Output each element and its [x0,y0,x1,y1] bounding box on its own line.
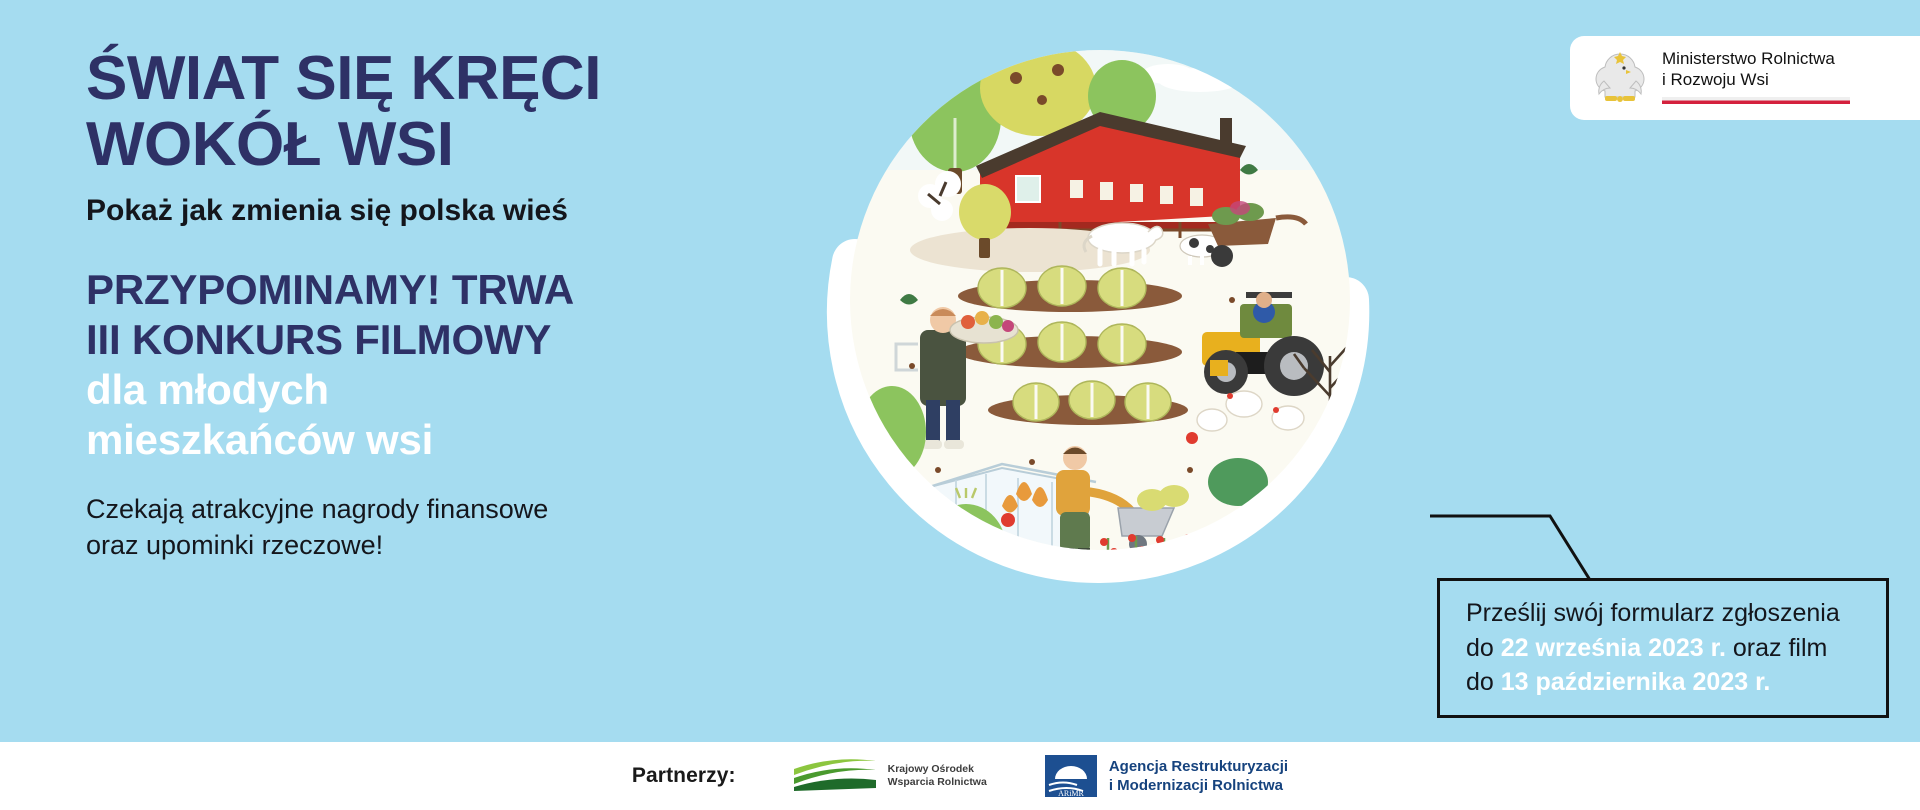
partner-logo-arimr: ARiMR Agencja Restrukturyzacji i Moderni… [1043,753,1288,799]
ministry-name-line1: Ministerstwo Rolnictwa [1662,49,1850,70]
audience: dla młodych mieszkańców wsi [86,365,706,466]
prizes-copy: Czekają atrakcyjne nagrody finansowe ora… [86,491,706,563]
deadline-prefix-2: do [1466,668,1501,696]
arimr-name-line2: i Modernizacji Rolnictwa [1109,776,1288,796]
page-title: ŚWIAT SIĘ KRĘCI WOKÓŁ WSI [86,46,706,177]
title-line-2: WOKÓŁ WSI [86,112,706,178]
announcement-line-1: PRZYPOMINAMY! TRWA [86,265,706,315]
arimr-sun-field-logo: ARiMR [1043,753,1099,799]
polish-eagle-emblem [1592,48,1648,108]
deadline-callout: Prześlij swój formularz zgłoszenia do 22… [1437,578,1889,718]
announcement-line-2: III KONKURS FILMOWY [86,315,706,365]
polish-flag-rule [1662,97,1850,104]
deadline-lead: Prześlij swój formularz zgłoszenia [1466,599,1840,627]
prizes-line-1: Czekają atrakcyjne nagrody finansowe [86,491,706,527]
promo-banner: Ministerstwo Rolnictwa i Rozwoju Wsi ŚWI… [0,0,1920,810]
svg-text:ARiMR: ARiMR [1058,789,1084,798]
deadline-text: Prześlij swój formularz zgłoszenia do 22… [1466,596,1840,700]
headline-column: ŚWIAT SIĘ KRĘCI WOKÓŁ WSI Pokaż jak zmie… [86,46,706,564]
title-line-1: ŚWIAT SIĘ KRĘCI [86,46,706,112]
subtitle: Pokaż jak zmienia się polska wieś [86,193,706,229]
partner-bar: Partnerzy: Krajowy Ośrodek Wsparcia Roln… [0,742,1920,810]
announcement: PRZYPOMINAMY! TRWA III KONKURS FILMOWY [86,265,706,364]
deadline-suffix-1: oraz film [1726,634,1827,662]
ministry-logo: Ministerstwo Rolnictwa i Rozwoju Wsi [1570,36,1920,120]
deadline-date-2: 13 października 2023 r. [1501,668,1771,696]
deadline-prefix-1: do [1466,634,1501,662]
arimr-name: Agencja Restrukturyzacji i Modernizacji … [1109,757,1288,796]
partners-label: Partnerzy: [632,764,736,788]
kowr-name: Krajowy Ośrodek Wsparcia Rolnictwa [888,763,987,789]
prizes-line-2: oraz upominki rzeczowe! [86,527,706,563]
kowr-green-swoosh-logo [792,756,878,796]
rural-village-globe-illustration [770,0,1410,742]
partner-logo-kowr: Krajowy Ośrodek Wsparcia Rolnictwa [792,756,987,796]
arimr-name-line1: Agencja Restrukturyzacji [1109,757,1288,777]
audience-line-1: dla młodych [86,365,706,415]
ministry-name-line2: i Rozwoju Wsi [1662,70,1850,91]
deadline-date-1: 22 września 2023 r. [1501,634,1726,662]
kowr-name-line2: Wsparcia Rolnictwa [888,776,987,789]
kowr-name-line1: Krajowy Ośrodek [888,763,987,776]
audience-line-2: mieszkańców wsi [86,415,706,465]
